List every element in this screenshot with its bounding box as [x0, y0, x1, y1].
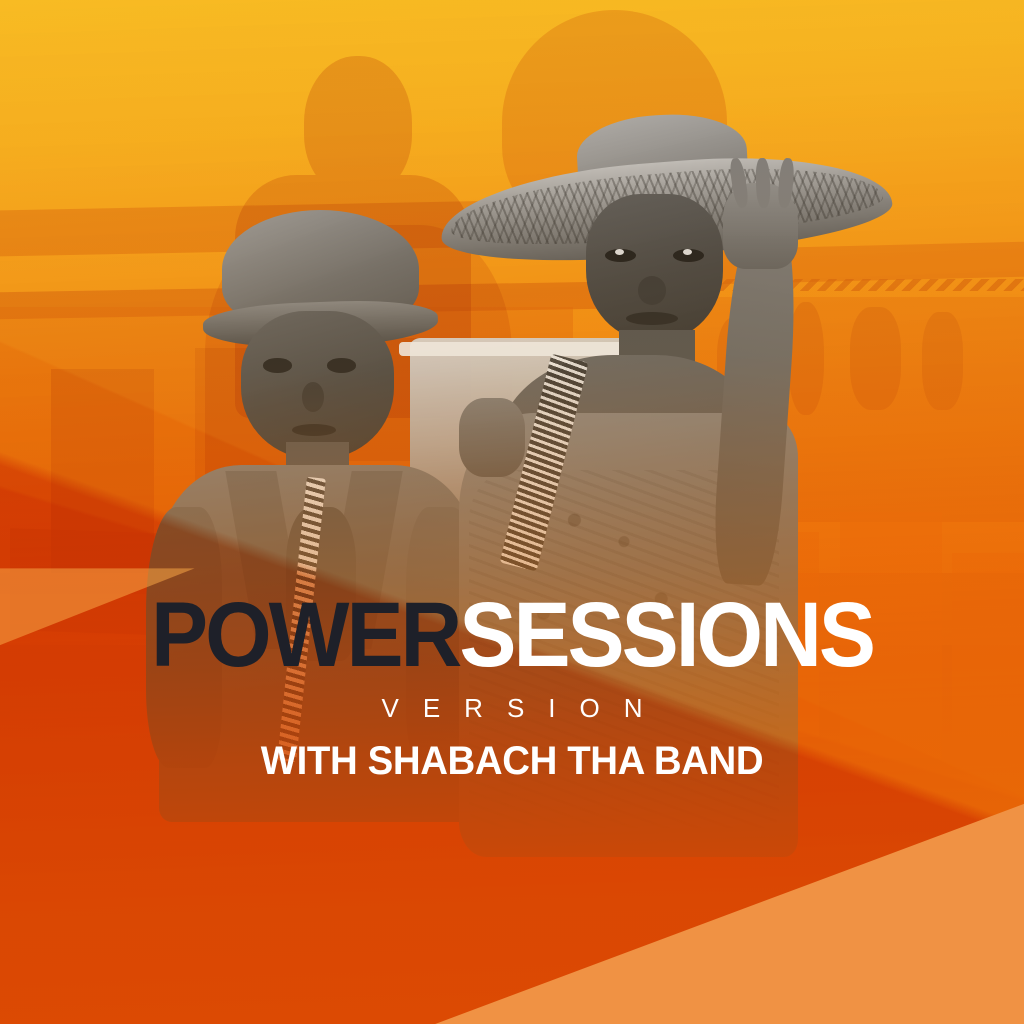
man-eye-left: [263, 358, 292, 372]
woman-eye-highlight-right: [683, 249, 692, 255]
title-block: POWERSESSIONS VERSION WITH SHABACH THA B…: [0, 596, 1024, 784]
woman-hand-lower: [459, 398, 525, 477]
man-nose: [302, 382, 324, 412]
credit-band-name: WITH SHABACH THA BAND: [20, 739, 1003, 784]
title-word-sessions: SESSIONS: [459, 584, 873, 686]
main-title: POWERSESSIONS: [36, 596, 988, 675]
man-mouth: [292, 424, 336, 436]
man-eye-right: [327, 358, 356, 372]
title-word-power: POWER: [151, 584, 459, 686]
woman-eye-highlight-left: [615, 249, 624, 255]
foreground-figures: [0, 0, 1024, 1024]
subtitle-version: VERSION: [0, 693, 1024, 724]
album-cover-poster: POWERSESSIONS VERSION WITH SHABACH THA B…: [0, 0, 1024, 1024]
